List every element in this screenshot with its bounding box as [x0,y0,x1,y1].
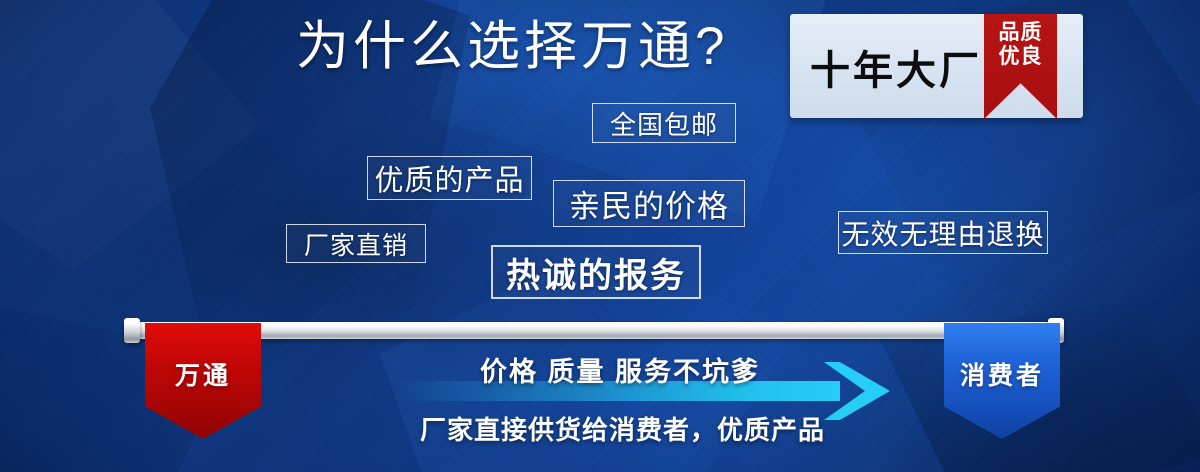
slogan-secondary: 厂家直接供货给消费者，优质产品 [420,410,825,447]
banner-pole [127,322,1062,339]
feature-tag-nationwide-shipping: 全国包邮 [592,103,736,143]
feature-tag-quality-product: 优质的产品 [367,156,532,200]
ribbon-line-2: 优良 [984,45,1057,69]
headline-title: 为什么选择万通? [296,15,728,79]
feature-tag-free-returns: 无效无理由退换 [838,211,1048,254]
feature-tag-sincere-service: 热诚的报务 [491,245,701,299]
promo-banner: 为什么选择万通? 十年大厂 品质 优良 全国包邮 优质的产品 亲民的价格 厂家直… [0,0,1200,472]
quality-ribbon: 品质 优良 [984,14,1057,119]
flag-manufacturer-label: 万通 [175,356,231,392]
badge-main-text: 十年大厂 [810,38,982,96]
ribbon-line-1: 品质 [984,21,1057,45]
feature-tag-affordable-price: 亲民的价格 [553,180,745,227]
flag-consumer-label: 消费者 [960,356,1044,392]
feature-tag-factory-direct: 厂家直销 [286,224,426,263]
slogan-primary: 价格 质量 服务不坑爹 [480,350,760,389]
pole-cap-left-icon [124,318,140,343]
quality-badge: 十年大厂 品质 优良 [790,14,1083,118]
